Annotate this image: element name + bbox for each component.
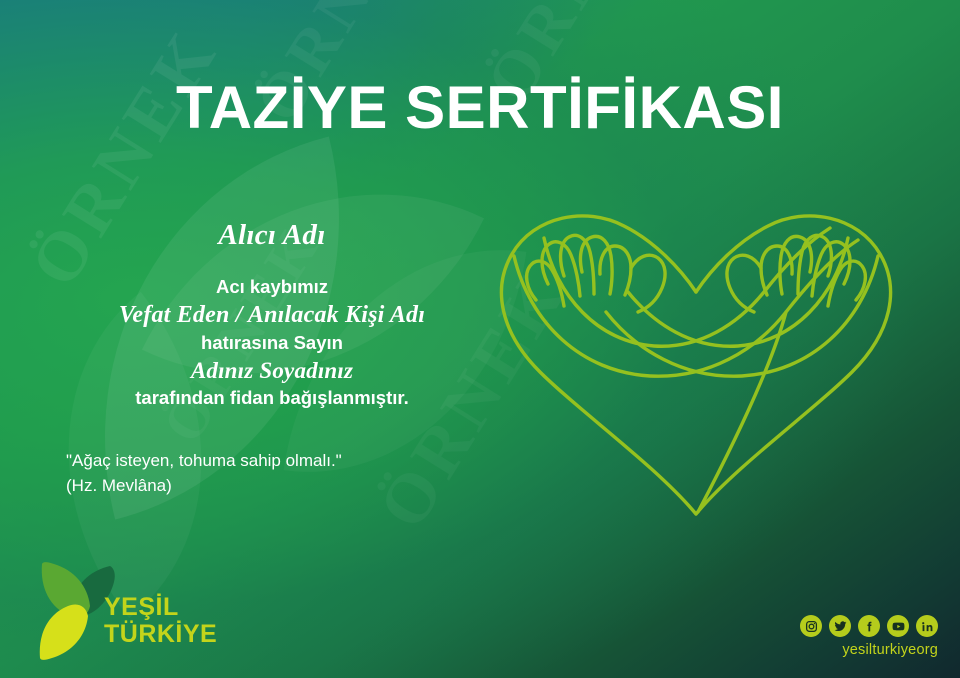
linkedin-icon[interactable] bbox=[916, 615, 938, 637]
organization-logo: YEŞİL TÜRKİYE bbox=[36, 560, 246, 664]
quote-attribution: (Hz. Mevlâna) bbox=[66, 474, 466, 499]
certificate-title: TAZİYE SERTİFİKASI bbox=[0, 76, 960, 139]
quote-text: "Ağaç isteyen, tohuma sahip olmalı." bbox=[66, 449, 466, 474]
social-links: yesilturkiyeorg bbox=[800, 615, 938, 658]
logo-line-2: TÜRKİYE bbox=[104, 621, 217, 648]
body-line-3: hatırasına Sayın bbox=[62, 331, 482, 356]
logo-wordmark: YEŞİL TÜRKİYE bbox=[104, 594, 217, 648]
social-icon-row bbox=[800, 615, 938, 637]
social-handle[interactable]: yesilturkiyeorg bbox=[800, 642, 938, 658]
body-line-5: tarafından fidan bağışlanmıştır. bbox=[62, 386, 482, 411]
body-line-1: Acı kaybımız bbox=[62, 275, 482, 300]
hands-heart-illustration bbox=[486, 196, 906, 526]
quote-block: "Ağaç isteyen, tohuma sahip olmalı." (Hz… bbox=[66, 449, 466, 498]
recipient-name: Alıcı Adı bbox=[62, 218, 482, 253]
logo-line-1: YEŞİL bbox=[104, 594, 217, 621]
instagram-icon[interactable] bbox=[800, 615, 822, 637]
twitter-icon[interactable] bbox=[829, 615, 851, 637]
certificate-body: Alıcı Adı Acı kaybımız Vefat Eden / Anıl… bbox=[62, 218, 482, 411]
donor-name: Adınız Soyadınız bbox=[62, 356, 482, 386]
facebook-icon[interactable] bbox=[858, 615, 880, 637]
deceased-name: Vefat Eden / Anılacak Kişi Adı bbox=[62, 300, 482, 332]
taziye-certificate: ÖRNEK ÖRNEK ÖRNEK ÖRNEK ÖRNEK TAZİYE SER… bbox=[0, 0, 960, 678]
youtube-icon[interactable] bbox=[887, 615, 909, 637]
